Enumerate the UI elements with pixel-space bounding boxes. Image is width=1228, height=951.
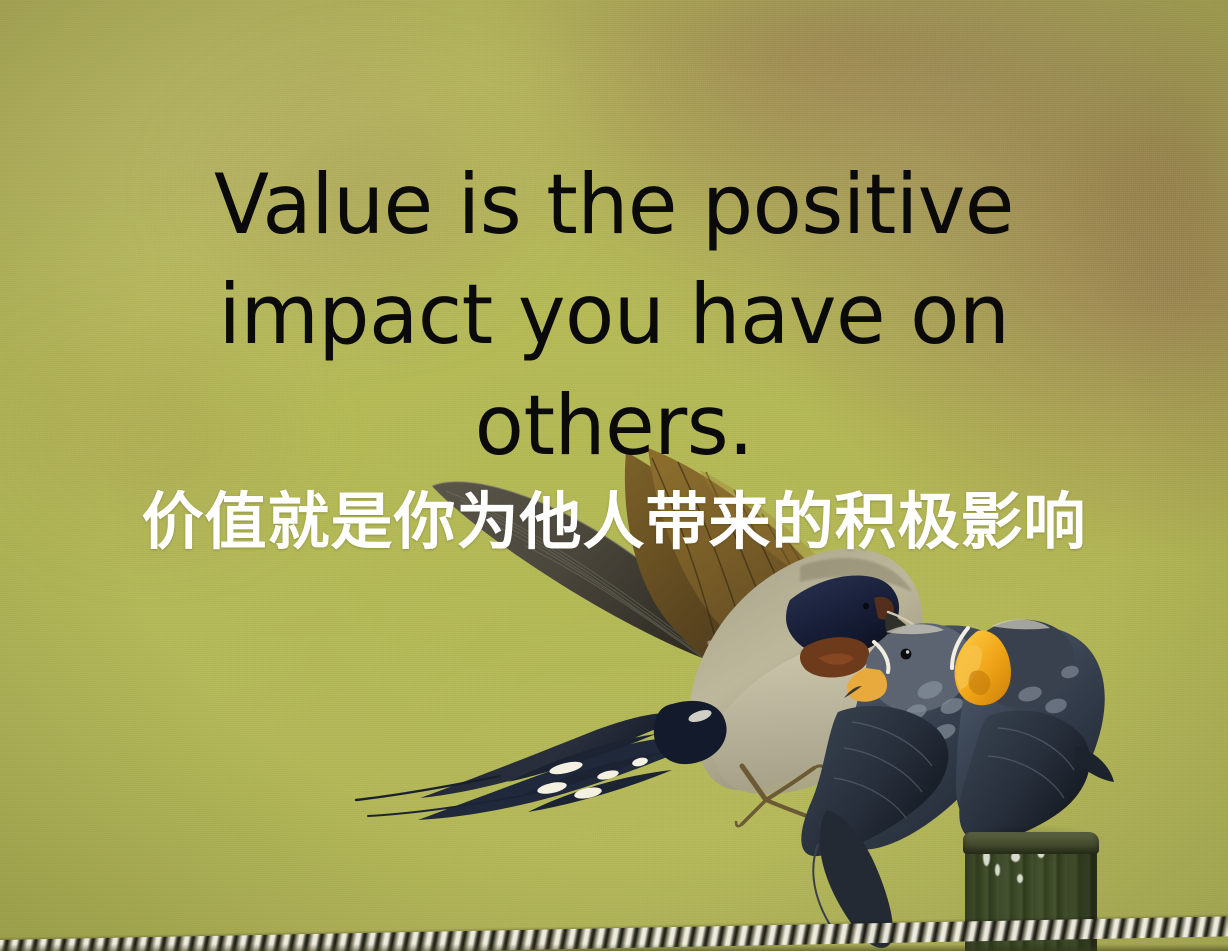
bottom-wire-shadow: [0, 944, 1228, 951]
post-top-face: [963, 832, 1099, 854]
swallow-scene-svg: [0, 0, 1228, 951]
quote-image-canvas: Value is the positive impact you have on…: [0, 0, 1228, 951]
adult-tail: [356, 701, 727, 820]
bird-photo-artwork: [0, 0, 1228, 951]
fledgling-right: [952, 619, 1114, 841]
